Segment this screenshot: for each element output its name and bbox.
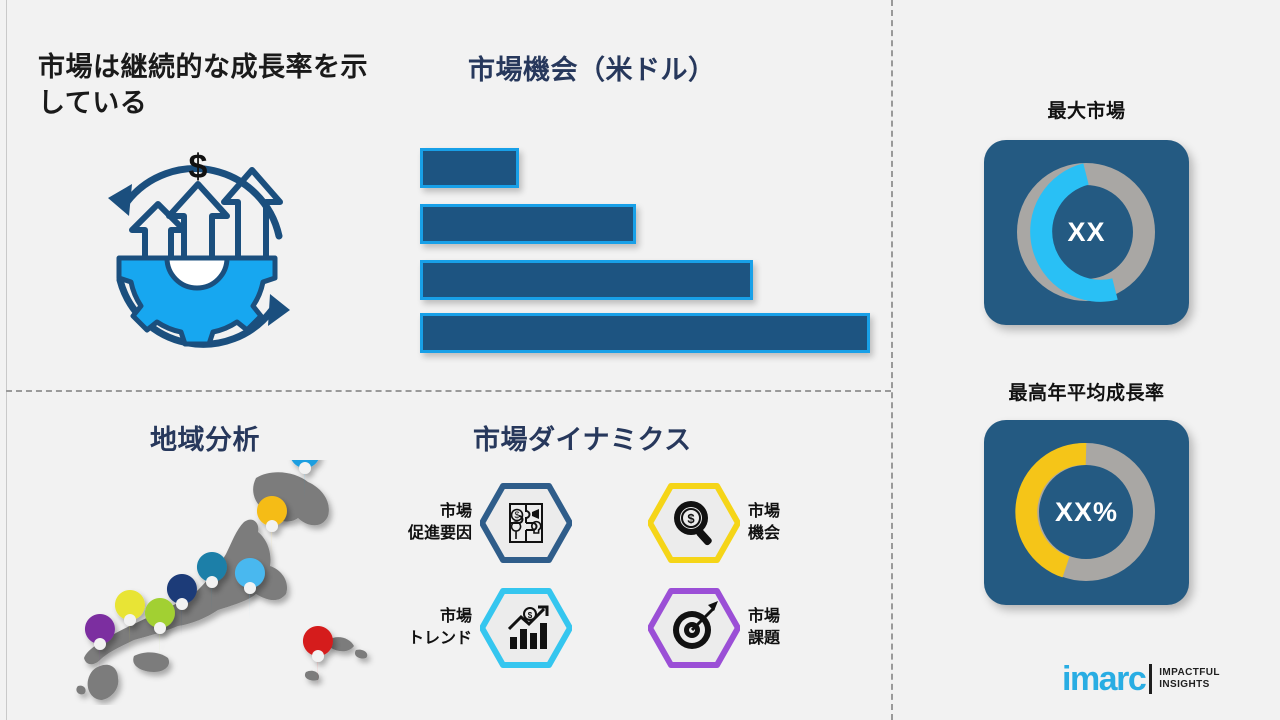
dynamics-item-trends-label: 市場 トレンド	[408, 606, 472, 649]
largest-market-card: XX	[984, 140, 1189, 325]
imarc-tagline: IMPACTFUL INSIGHTS	[1159, 667, 1220, 692]
market-dynamics-grid: 市場 促進要因 $	[400, 482, 840, 682]
growth-section: 市場は継続的な成長率を示している $ 市場機会（米ドル	[0, 0, 891, 390]
dynamics-item-drivers[interactable]: 市場 促進要因 $	[408, 482, 572, 564]
puzzle-pieces-icon: $	[480, 482, 572, 564]
region-and-dynamics-section: 地域分析 市場ダイナミクス	[0, 390, 891, 720]
kpi-column: 最大市場 XX 最高年平均成長率 XX%	[893, 0, 1280, 720]
growth-gear-arrows-icon: $	[72, 140, 322, 370]
bar-chart-growth-icon: $	[480, 587, 572, 669]
highest-cagr-card: XX%	[984, 420, 1189, 605]
imarc-wordmark: imarc	[1062, 662, 1145, 696]
largest-market-title: 最大市場	[893, 96, 1280, 123]
magnifier-dollar-icon: $	[648, 482, 740, 564]
highest-cagr-title: 最高年平均成長率	[893, 378, 1280, 405]
dynamics-item-opportunities[interactable]: $ 市場 機会	[648, 482, 780, 564]
target-dart-icon	[648, 587, 740, 669]
dynamics-item-drivers-label: 市場 促進要因	[408, 501, 472, 544]
svg-text:$: $	[528, 611, 533, 620]
regional-analysis-title: 地域分析	[150, 418, 260, 457]
bar-row-2	[420, 260, 753, 300]
highest-cagr-value: XX%	[984, 420, 1189, 605]
bar-row-1	[420, 204, 636, 244]
imarc-logo: imarc IMPACTFUL INSIGHTS	[1062, 662, 1220, 696]
japan-map	[60, 460, 390, 705]
bar-row-3	[420, 313, 870, 353]
svg-text:$: $	[687, 511, 695, 526]
svg-text:$: $	[189, 148, 208, 186]
bar-row-0	[420, 148, 519, 188]
dynamics-item-trends[interactable]: 市場 トレンド $	[408, 587, 572, 669]
largest-market-value: XX	[984, 140, 1189, 325]
dynamics-item-challenges[interactable]: 市場 課題	[648, 587, 780, 669]
dynamics-item-opportunities-label: 市場 機会	[748, 501, 780, 544]
page-title: 市場は継続的な成長率を示している	[38, 50, 388, 121]
opportunity-bar-chart	[420, 148, 880, 348]
dynamics-item-challenges-label: 市場 課題	[748, 606, 780, 649]
svg-text:$: $	[515, 510, 520, 520]
market-opportunity-title: 市場機会（米ドル）	[468, 48, 716, 87]
market-dynamics-title: 市場ダイナミクス	[473, 418, 692, 457]
logo-divider	[1149, 664, 1152, 694]
